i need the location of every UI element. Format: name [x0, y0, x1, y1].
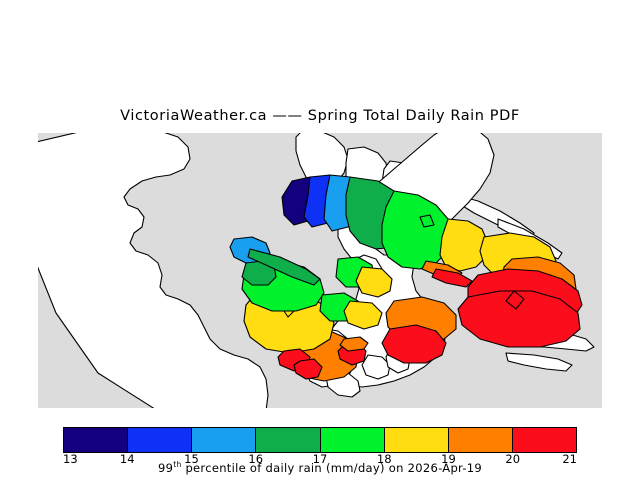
caption-rest: percentile of daily rain (mm/day) on 202…: [182, 461, 483, 475]
colorbar-segment-14-15: [128, 428, 192, 452]
caption-percentile-number: 99: [158, 461, 173, 475]
colorbar-segment-15-16: [192, 428, 256, 452]
colorbar-segment-16-17: [256, 428, 320, 452]
screenshot-root: VictoriaWeather.ca —— Spring Total Daily…: [0, 0, 640, 480]
page-title: VictoriaWeather.ca —— Spring Total Daily…: [0, 108, 640, 124]
land-east-tail-lower: [506, 353, 572, 371]
caption-percentile-suffix: th: [173, 460, 181, 469]
region-strip-red-a: [432, 269, 472, 287]
region-lopez-island: [382, 325, 446, 363]
colorbar-segment-13-14: [64, 428, 128, 452]
colorbar-segment-19-20: [449, 428, 513, 452]
colorbar-segment-20-21: [513, 428, 576, 452]
map-panel: [38, 133, 602, 408]
colorbar-segment-18-19: [385, 428, 449, 452]
colorbar: [63, 427, 577, 453]
colorbar-segments: [63, 427, 577, 453]
region-gulf-islands-east: [440, 219, 488, 271]
colorbar-caption: 99th percentile of daily rain (mm/day) o…: [0, 461, 640, 475]
land-mainland-west: [38, 133, 268, 408]
colorbar-segment-17-18: [321, 428, 385, 452]
map-svg: [38, 133, 602, 408]
